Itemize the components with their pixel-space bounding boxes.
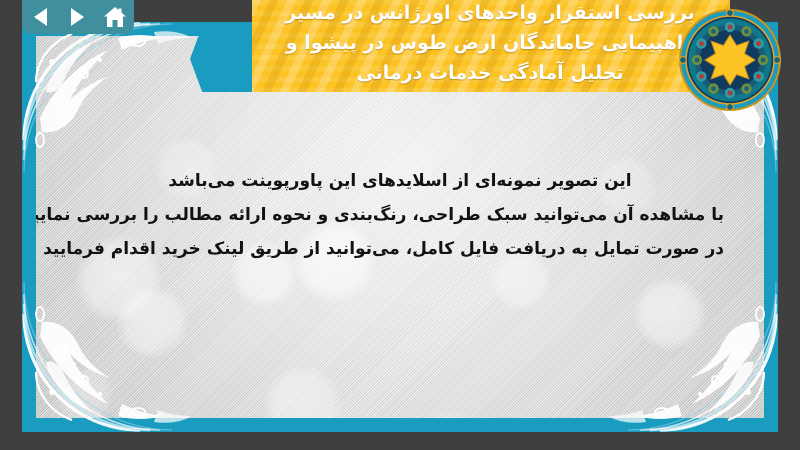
home-icon <box>103 6 127 28</box>
home-button[interactable] <box>102 5 128 29</box>
navigation-toolbar <box>22 0 134 34</box>
bokeh-circle <box>116 286 188 358</box>
powerpoint-slide: این تصویر نمونه‌ای از اسلایدهای این پاور… <box>22 22 778 432</box>
body-line: در صورت تمایل به دریافت فایل کامل، می‌تو… <box>76 232 724 266</box>
slide-viewer: این تصویر نمونه‌ای از اسلایدهای این پاور… <box>0 0 800 450</box>
forward-button[interactable] <box>65 5 91 29</box>
bokeh-circle <box>634 278 706 350</box>
bokeh-circle <box>264 366 342 418</box>
triangle-right-icon <box>71 8 84 26</box>
bokeh-circle <box>56 366 114 418</box>
slide-canvas: این تصویر نمونه‌ای از اسلایدهای این پاور… <box>36 36 764 418</box>
body-line: این تصویر نمونه‌ای از اسلایدهای این پاور… <box>76 164 724 198</box>
bokeh-circle <box>414 411 484 418</box>
triangle-left-icon <box>34 8 47 26</box>
slide-body-text: این تصویر نمونه‌ای از اسلایدهای این پاور… <box>76 164 724 266</box>
body-line: با مشاهده آن می‌توانید سبک طراحی، رنگ‌بن… <box>76 198 724 232</box>
back-button[interactable] <box>28 5 54 29</box>
